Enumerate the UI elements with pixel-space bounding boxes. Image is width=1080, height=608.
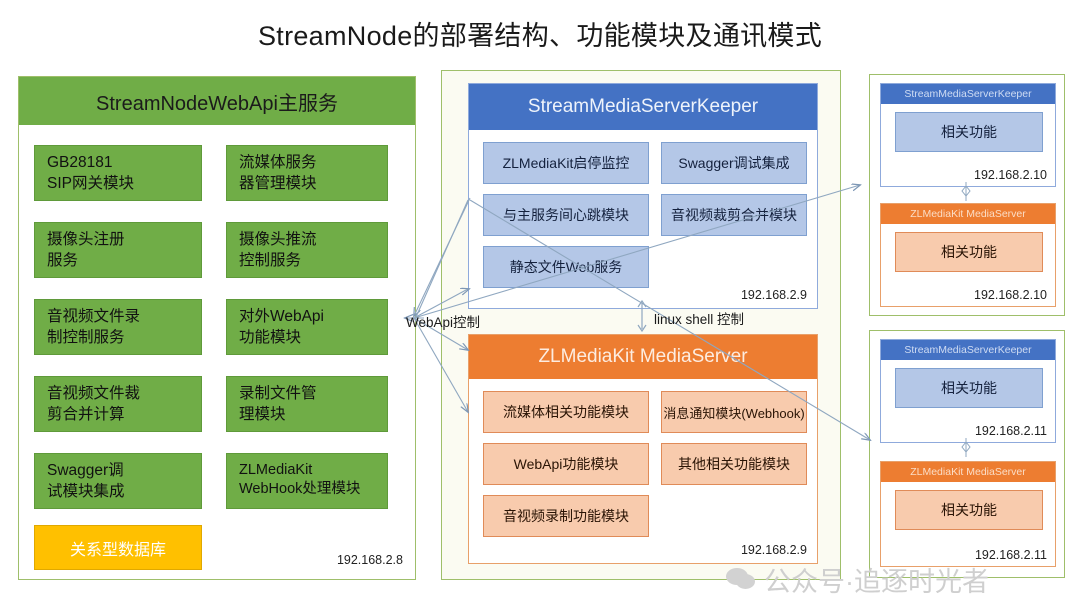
remote1-mediaserver-header: ZLMediaKit MediaServer — [881, 204, 1055, 224]
keeper-module-startstop-monitor[interactable]: ZLMediaKit启停监控 — [483, 142, 649, 184]
remote-node-group-1: StreamMediaServerKeeper 相关功能 192.168.2.1… — [869, 74, 1065, 316]
ms-module-av-record[interactable]: 音视频录制功能模块 — [483, 495, 649, 537]
module-media-server-manager[interactable]: 流媒体服务器管理模块 — [226, 145, 388, 201]
module-zlmediakit-webhook[interactable]: ZLMediaKitWebHook处理模块 — [226, 453, 388, 509]
mediaserver-card-header: ZLMediaKit MediaServer — [469, 335, 817, 379]
module-swagger-debug[interactable]: Swagger调试模块集成 — [34, 453, 202, 509]
remote1-keeper-box: StreamMediaServerKeeper 相关功能 192.168.2.1… — [880, 83, 1056, 187]
remote2-mediaserver-function-box[interactable]: 相关功能 — [895, 490, 1043, 530]
remote2-keeper-ip: 192.168.2.11 — [975, 424, 1047, 438]
keeper-card-header: StreamMediaServerKeeper — [469, 84, 817, 130]
ms-module-other[interactable]: 其他相关功能模块 — [661, 443, 807, 485]
remote2-mediaserver-header: ZLMediaKit MediaServer — [881, 462, 1055, 482]
remote1-keeper-function-box[interactable]: 相关功能 — [895, 112, 1043, 152]
mediaserver-card: ZLMediaKit MediaServer 流媒体相关功能模块 消息通知模块(… — [468, 334, 818, 564]
remote2-mediaserver-box: ZLMediaKit MediaServer 相关功能 192.168.2.11 — [880, 461, 1056, 567]
remote1-mediaserver-function-box[interactable]: 相关功能 — [895, 232, 1043, 272]
remote1-mediaserver-box: ZLMediaKit MediaServer 相关功能 192.168.2.10 — [880, 203, 1056, 307]
page-title: StreamNode的部署结构、功能模块及通讯模式 — [0, 14, 1080, 53]
ms-module-webapi[interactable]: WebApi功能模块 — [483, 443, 649, 485]
remote2-keeper-header: StreamMediaServerKeeper — [881, 340, 1055, 360]
keeper-module-av-cut-merge[interactable]: 音视频裁剪合并模块 — [661, 194, 807, 236]
middle-server-panel: StreamMediaServerKeeper ZLMediaKit启停监控 S… — [441, 70, 841, 580]
keeper-card-ip: 192.168.2.9 — [741, 288, 807, 302]
module-gb28181-sip-gateway[interactable]: GB28181SIP网关模块 — [34, 145, 202, 201]
module-av-cut-merge[interactable]: 音视频文件裁剪合并计算 — [34, 376, 202, 432]
left-panel-ip: 192.168.2.8 — [337, 553, 403, 567]
diagram-canvas: StreamNode的部署结构、功能模块及通讯模式 StreamNodeWebA… — [0, 0, 1080, 608]
streamnode-webapi-panel: StreamNodeWebApi主服务 GB28181SIP网关模块 流媒体服务… — [18, 76, 416, 580]
keeper-module-swagger[interactable]: Swagger调试集成 — [661, 142, 807, 184]
webapi-control-label: WebApi控制 — [406, 311, 480, 331]
keeper-module-heartbeat[interactable]: 与主服务间心跳模块 — [483, 194, 649, 236]
remote2-keeper-function-box[interactable]: 相关功能 — [895, 368, 1043, 408]
remote1-mediaserver-ip: 192.168.2.10 — [974, 288, 1047, 302]
module-record-file-manage[interactable]: 录制文件管理模块 — [226, 376, 388, 432]
relational-database-box[interactable]: 关系型数据库 — [34, 525, 202, 570]
watermark: 公众号·追逐时光者 — [726, 560, 989, 599]
watermark-text: 公众号·追逐时光者 — [764, 560, 989, 599]
ms-module-webhook-notify[interactable]: 消息通知模块(Webhook) — [661, 391, 807, 433]
remote-node-group-2: StreamMediaServerKeeper 相关功能 192.168.2.1… — [869, 330, 1065, 578]
keeper-card: StreamMediaServerKeeper ZLMediaKit启停监控 S… — [468, 83, 818, 309]
mediaserver-card-ip: 192.168.2.9 — [741, 543, 807, 557]
module-external-webapi[interactable]: 对外WebApi功能模块 — [226, 299, 388, 355]
keeper-module-static-web[interactable]: 静态文件Web服务 — [483, 246, 649, 288]
ms-module-stream-related[interactable]: 流媒体相关功能模块 — [483, 391, 649, 433]
module-camera-registration[interactable]: 摄像头注册服务 — [34, 222, 202, 278]
module-camera-push-control[interactable]: 摄像头推流控制服务 — [226, 222, 388, 278]
remote2-keeper-box: StreamMediaServerKeeper 相关功能 192.168.2.1… — [880, 339, 1056, 443]
left-panel-header: StreamNodeWebApi主服务 — [19, 77, 415, 125]
module-av-record-control[interactable]: 音视频文件录制控制服务 — [34, 299, 202, 355]
remote1-keeper-header: StreamMediaServerKeeper — [881, 84, 1055, 104]
remote1-keeper-ip: 192.168.2.10 — [974, 168, 1047, 182]
linux-shell-control-label: linux shell 控制 — [654, 308, 744, 328]
chat-bubble-icon — [726, 568, 756, 592]
